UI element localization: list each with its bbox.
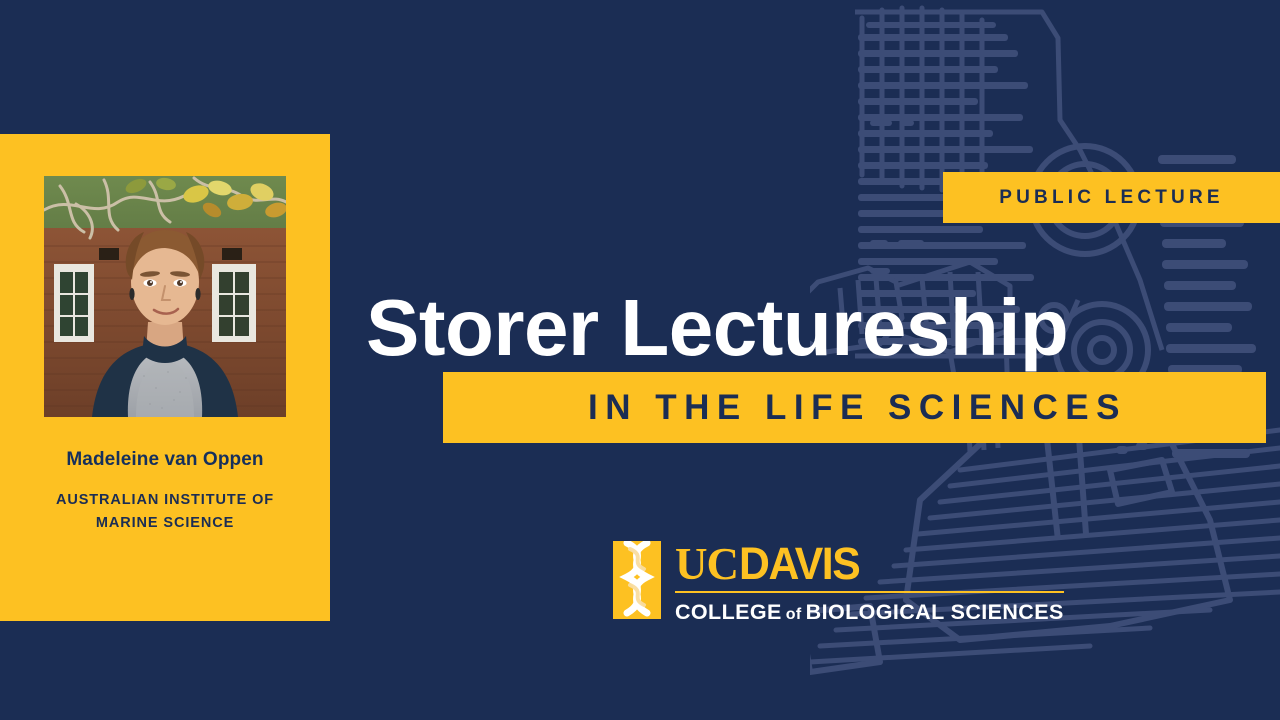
logo-unit-text: BIOLOGICAL SCIENCES (806, 600, 1064, 625)
logo-of-text: of (786, 606, 802, 624)
uc-davis-logo: UC DAVIS COLLEGE of BIOLOGICAL SCIENCES (613, 541, 1173, 619)
logo-davis-text: DAVIS (739, 541, 859, 586)
avatar (44, 176, 286, 417)
speaker-card: Madeleine van Oppen AUSTRALIAN INSTITUTE… (0, 134, 330, 621)
logo-divider (675, 591, 1064, 593)
badge-label: PUBLIC LECTURE (999, 187, 1224, 209)
logo-uc-text: UC (675, 542, 738, 587)
dna-helix-icon (613, 541, 661, 619)
subtitle-label: IN THE LIFE SCIENCES (582, 388, 1127, 428)
public-lecture-badge: PUBLIC LECTURE (943, 172, 1280, 223)
speaker-name: Madeleine van Oppen (50, 447, 280, 473)
lecture-promo-slide: Madeleine van Oppen AUSTRALIAN INSTITUTE… (0, 0, 1280, 720)
logo-wordmark: UC DAVIS COLLEGE of BIOLOGICAL SCIENCES (675, 541, 1064, 625)
speaker-affiliation: AUSTRALIAN INSTITUTE OF MARINE SCIENCE (40, 489, 290, 536)
logo-college-text: COLLEGE (675, 600, 782, 625)
page-title: Storer Lectureship (366, 284, 1266, 372)
subtitle-bar: IN THE LIFE SCIENCES (443, 372, 1266, 443)
